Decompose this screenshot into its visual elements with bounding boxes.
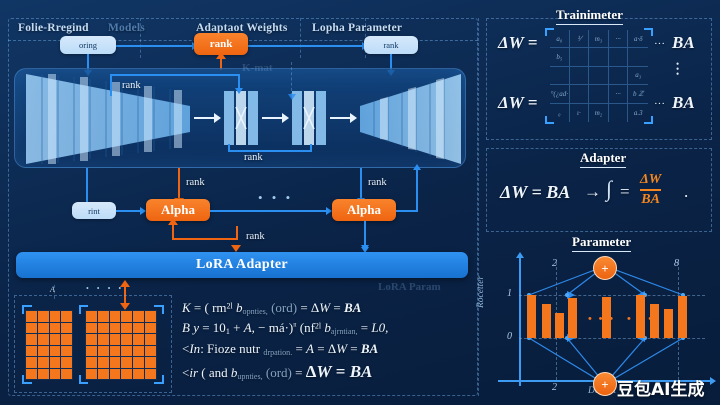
matrix-cell xyxy=(98,369,109,380)
trainimeter-matrix-cell xyxy=(609,104,629,122)
matrix-cell xyxy=(86,311,97,322)
chart-y-axis-label: Rocetter xyxy=(476,276,486,308)
matrix-cell xyxy=(61,334,72,345)
return-line-v xyxy=(416,168,418,210)
matrix-cell xyxy=(133,369,144,380)
connector-alpha-alpha xyxy=(210,210,328,212)
bottleneck-block-1 xyxy=(224,91,258,145)
matrix-cell xyxy=(86,346,97,357)
equation-2: B y = 101 + A, − má·)ᴵᴵ (nf2l bajrntian,… xyxy=(182,320,388,336)
chart-node-top-plus[interactable]: + xyxy=(593,256,617,280)
adapter-equals: = xyxy=(620,182,630,202)
matrix-cell xyxy=(98,346,109,357)
matrix-cell xyxy=(38,323,49,334)
matrix-bracket-br xyxy=(644,116,653,124)
chart-bars xyxy=(519,258,719,343)
matrix-cell xyxy=(133,334,144,345)
chart-bar xyxy=(555,313,564,338)
lora-orange-in xyxy=(231,245,241,252)
trainimeter-matrix-cell: ··· xyxy=(609,30,629,48)
trainimeter-matrix-cell: °(¿ad· xyxy=(550,85,570,103)
flow-arrow-3-head xyxy=(350,113,357,123)
flow-arrow-1 xyxy=(194,117,216,119)
matrix-cell xyxy=(145,323,156,334)
equation-4: <ir ( and bupnties, (ord) = ΔW = BA xyxy=(182,362,372,382)
rank-bracket-top xyxy=(110,74,240,76)
chart-bar xyxy=(664,309,673,338)
chart-bar xyxy=(568,298,577,338)
matrix-cell xyxy=(98,323,109,334)
decoder-trapezoid xyxy=(358,70,463,168)
rank-bracket-left xyxy=(110,74,112,96)
matrix-cell xyxy=(61,369,72,380)
matrix-cell xyxy=(86,369,97,380)
matrix-cell xyxy=(145,369,156,380)
rank-line-alpha-left xyxy=(178,168,180,200)
matrix-cell xyxy=(110,357,121,368)
matrix-cell xyxy=(86,334,97,345)
trainimeter-matrix-cell xyxy=(589,85,609,103)
pill-oring[interactable]: oring xyxy=(60,36,116,54)
matrix-cell xyxy=(133,323,144,334)
rank-elbow-up xyxy=(172,224,174,240)
panel-divider-2 xyxy=(300,18,301,58)
trainimeter-matrix-cell xyxy=(589,48,609,66)
trainimeter-matrix-cell xyxy=(570,85,590,103)
grid-top-ellipsis: • • • • xyxy=(86,284,124,293)
trainimeter-matrix-cell: ⅟ xyxy=(570,30,590,48)
parameter-title: Parameter xyxy=(572,234,631,252)
adapter-fraction-bar xyxy=(640,189,661,191)
matrix-cell xyxy=(121,369,132,380)
matrix-bracket-tr xyxy=(644,28,653,36)
matrix-cell xyxy=(133,357,144,368)
panel-divider-4 xyxy=(478,18,479,396)
pill-alpha-right[interactable]: Alpha xyxy=(332,199,396,221)
matrix-cell xyxy=(50,311,61,322)
chart-ytick-1: 1 xyxy=(507,288,512,299)
flow-arrow-2 xyxy=(262,117,284,119)
trainimeter-matrix-cell xyxy=(628,48,648,66)
trainimeter-ellipsis-1: ··· xyxy=(654,38,665,50)
rank-bracket-bottom xyxy=(228,150,312,152)
pill-alpha-left[interactable]: Alpha xyxy=(146,199,210,221)
connector-pill1-pill2 xyxy=(114,45,194,47)
adapter-integral: ∫ xyxy=(606,176,612,202)
matrix-cell xyxy=(26,311,37,322)
trainimeter-vertical-dots: ••• xyxy=(676,62,679,77)
matrix-cell xyxy=(61,323,72,334)
matrix-cell xyxy=(110,323,121,334)
rank-label-top: rank xyxy=(122,80,141,91)
matrix-cell xyxy=(50,323,61,334)
trainimeter-matrix-cell xyxy=(570,67,590,85)
matrix-cell xyxy=(121,334,132,345)
trainimeter-matrix-cell xyxy=(609,48,629,66)
rank-label-elbow: rank xyxy=(246,231,265,242)
matrix-cell xyxy=(98,311,109,322)
chart-ytick-0: 0 xyxy=(507,331,512,342)
matrix-cell xyxy=(26,346,37,357)
trainimeter-matrix-cell: b₅ xyxy=(550,48,570,66)
matrix-cell xyxy=(86,323,97,334)
adapter-period: . xyxy=(684,182,688,202)
trainimeter-matrix-cell: m₂ xyxy=(589,104,609,122)
adapter-fraction: ΔW BA xyxy=(640,172,661,208)
matrix-cell xyxy=(133,311,144,322)
matrix-cell xyxy=(98,357,109,368)
pill-rint[interactable]: rint xyxy=(72,202,116,219)
rank-label-alpha-right: rank xyxy=(368,177,387,188)
trainimeter-row2-lhs: ΔW = xyxy=(498,93,537,113)
matrix-cell xyxy=(38,334,49,345)
lora-adapter-bar[interactable]: LoRA Adapter xyxy=(16,252,468,278)
matrix-cell xyxy=(145,334,156,345)
matrix-cell xyxy=(26,357,37,368)
matrix-cell xyxy=(98,334,109,345)
matrix-cell xyxy=(121,357,132,368)
trainimeter-matrix-cell xyxy=(570,48,590,66)
lora-blue-in xyxy=(361,245,369,251)
flow-arrow-1-head xyxy=(214,113,221,123)
matrix-cell xyxy=(50,334,61,345)
matrix-cell xyxy=(145,346,156,357)
trainimeter-matrix-cell: ··· xyxy=(609,85,629,103)
matrix-cell xyxy=(121,346,132,357)
arrow-up-rank-orange xyxy=(216,52,226,59)
adapter-title: Adapter xyxy=(580,150,626,168)
matrix-cell xyxy=(26,334,37,345)
matrix-cell xyxy=(26,369,37,380)
equation-3: <In: Fioze nutr drpation. = A = ΔW = BA xyxy=(182,341,378,357)
return-line-arrow xyxy=(413,164,421,170)
trainimeter-matrix-cell xyxy=(589,67,609,85)
matrix-bracket-bl xyxy=(545,116,554,124)
matrix-grid-right xyxy=(85,310,157,380)
adapter-arrow: → xyxy=(584,182,601,202)
matrix-cell xyxy=(61,357,72,368)
matrix-cell xyxy=(145,311,156,322)
ghost-lora-param: LoRA Param xyxy=(378,281,441,293)
matrix-cell xyxy=(110,334,121,345)
adapter-fraction-numerator: ΔW xyxy=(640,172,661,188)
rank-label-alpha-left: rank xyxy=(186,177,205,188)
chart-bar xyxy=(527,295,536,338)
trainimeter-matrix-cell xyxy=(609,67,629,85)
header-models: Models xyxy=(108,22,145,34)
chart-bar xyxy=(542,304,551,338)
bottleneck-block-2 xyxy=(292,91,326,145)
adapter-equation-lhs: ΔW = BA xyxy=(500,182,570,203)
trainimeter-matrix-cell: m₃ xyxy=(589,30,609,48)
trainimeter-row1-lhs: ΔW = xyxy=(498,33,537,53)
matrix-cell xyxy=(110,311,121,322)
matrix-cell xyxy=(38,369,49,380)
trainimeter-title: Trainimeter xyxy=(556,7,623,25)
header-lopha-parameter: Lopha Parameter xyxy=(312,22,402,34)
adapter-fraction-denominator: BA xyxy=(640,192,661,208)
matrix-cell xyxy=(145,357,156,368)
matrix-cell xyxy=(38,346,49,357)
chart-node-bottom-plus[interactable]: + xyxy=(593,372,617,396)
matrix-cell xyxy=(50,369,61,380)
flow-arrow-2-head xyxy=(282,113,289,123)
rank-elbow-h xyxy=(172,238,238,240)
poster-root: Folie-Rregind Models Adaptaot Weights Lo… xyxy=(0,0,720,405)
dashed-drop-arrow xyxy=(288,94,296,100)
matrix-cell xyxy=(50,346,61,357)
matrix-bracket-tl xyxy=(545,28,554,36)
rank-bracket-br xyxy=(310,144,312,150)
alpha-row-ellipsis: • • • xyxy=(258,190,293,206)
trainimeter-row1-rhs: BA xyxy=(672,33,695,53)
rank-bracket-arrow xyxy=(235,88,243,94)
matrix-cell xyxy=(121,323,132,334)
matrix-cell xyxy=(61,346,72,357)
chart-bar xyxy=(678,296,687,338)
trainimeter-matrix-cell xyxy=(550,67,570,85)
equation-1: K = ( rm2l bopnties, (ord) = ΔW = BA xyxy=(182,300,361,316)
matrix-grid-left xyxy=(25,310,73,380)
matrix-cell xyxy=(26,323,37,334)
connector-rint-alpha xyxy=(116,210,142,212)
matrix-cell xyxy=(50,357,61,368)
dashed-drop-center xyxy=(291,62,292,96)
trainimeter-matrix-cell: b ℤ xyxy=(628,85,648,103)
grid-label-a: A xyxy=(50,285,55,294)
flow-arrow-3 xyxy=(330,117,352,119)
encoder-trapezoid xyxy=(22,70,192,168)
matrix-cell xyxy=(86,357,97,368)
matrix-cell xyxy=(133,346,144,357)
watermark-label: 豆包AI生成 xyxy=(617,375,704,400)
chart-ellipsis-left: • • • xyxy=(588,313,615,325)
trainimeter-matrix: a₀⅟m₃···a·δb₅a₃°(¿ad····b ℤ₀ι·m₂a.3 xyxy=(550,30,648,122)
matrix-cell xyxy=(38,311,49,322)
trainimeter-ellipsis-2: ··· xyxy=(654,98,665,110)
rank-label-bottom: rank xyxy=(244,152,263,163)
matrix-cell xyxy=(110,369,121,380)
pill-rank-light[interactable]: rank xyxy=(364,36,418,54)
header-folie-rregind: Folie-Rregind xyxy=(18,22,89,34)
return-line-h xyxy=(396,210,418,212)
rank-elbow-arrow xyxy=(168,218,178,225)
matrix-cell xyxy=(38,357,49,368)
matrix-cell xyxy=(121,311,132,322)
chart-ellipsis-right: • • • xyxy=(627,313,654,325)
trainimeter-matrix-cell: a₃ xyxy=(628,67,648,85)
trainimeter-row2-rhs: BA xyxy=(672,93,695,113)
rank-line-alpha-right xyxy=(360,168,362,200)
connector-pill2-pill3 xyxy=(246,45,364,47)
trainimeter-matrix-cell: ι· xyxy=(570,104,590,122)
rank-bracket-bl xyxy=(228,144,230,150)
matrix-cell xyxy=(61,311,72,322)
matrix-cell xyxy=(110,346,121,357)
ghost-kmat-label: K-mat xyxy=(242,62,273,74)
